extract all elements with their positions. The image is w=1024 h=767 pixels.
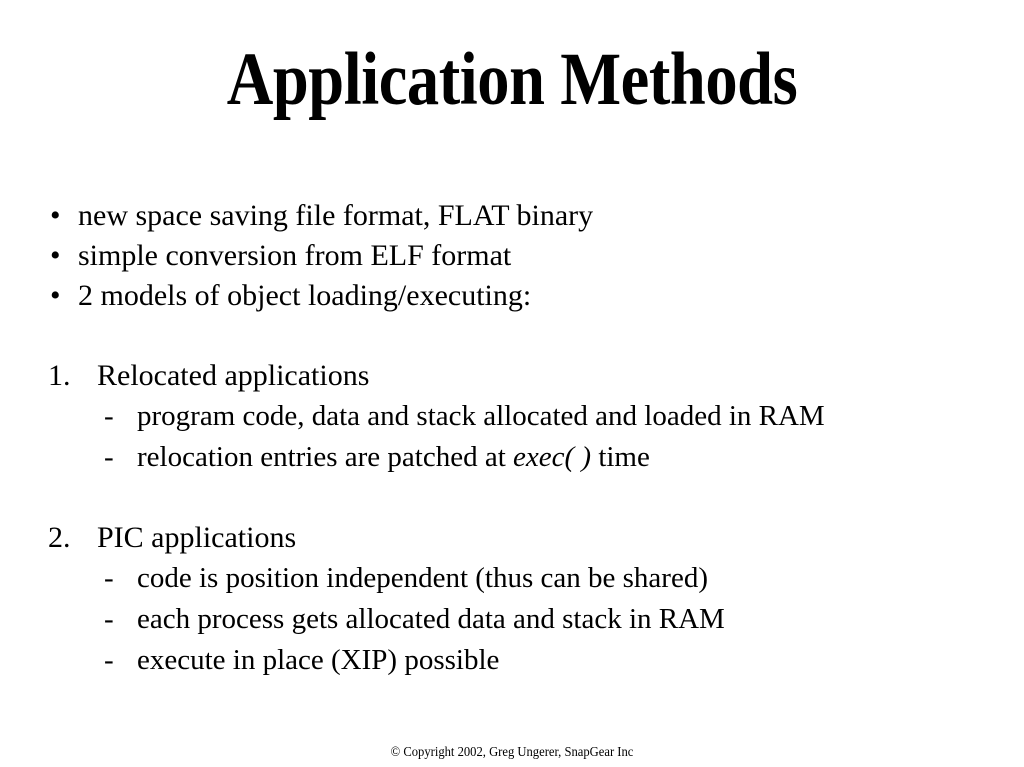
spacer	[44, 478, 1004, 518]
bullet-marker-icon: •	[50, 276, 61, 316]
sub-item: - execute in place (XIP) possible	[44, 640, 1004, 681]
numbered-item: 2. PIC applications	[44, 518, 1004, 558]
list-number: 2.	[48, 518, 71, 558]
slide-body: • new space saving file format, FLAT bin…	[44, 196, 1004, 681]
dash-marker-icon: -	[104, 599, 114, 640]
bullet-text: new space saving file format, FLAT binar…	[78, 199, 593, 232]
sub-item-text: each process gets allocated data and sta…	[137, 603, 725, 635]
sub-item: - program code, data and stack allocated…	[44, 396, 1004, 437]
bullet-marker-icon: •	[50, 196, 61, 236]
dash-marker-icon: -	[104, 437, 114, 478]
sub-item-text: relocation entries are patched at	[137, 441, 513, 473]
bullet-item: • 2 models of object loading/executing:	[44, 276, 1004, 316]
spacer	[44, 316, 1004, 356]
sub-item: - each process gets allocated data and s…	[44, 599, 1004, 640]
list-number: 1.	[48, 356, 71, 396]
bullet-text: simple conversion from ELF format	[78, 239, 511, 272]
bullet-item: • simple conversion from ELF format	[44, 236, 1004, 276]
bullet-marker-icon: •	[50, 236, 61, 276]
dash-marker-icon: -	[104, 558, 114, 599]
numbered-heading: PIC applications	[97, 521, 296, 554]
copyright-footer: © Copyright 2002, Greg Ungerer, SnapGear…	[51, 744, 973, 762]
sub-item-emphasis: exec( )	[513, 441, 591, 473]
sub-item: - relocation entries are patched at exec…	[44, 437, 1004, 478]
dash-marker-icon: -	[104, 396, 114, 437]
numbered-item: 1. Relocated applications	[44, 356, 1004, 396]
sub-item: - code is position independent (thus can…	[44, 558, 1004, 599]
sub-item-text: code is position independent (thus can b…	[137, 562, 708, 594]
numbered-heading: Relocated applications	[97, 359, 369, 392]
bullet-item: • new space saving file format, FLAT bin…	[44, 196, 1004, 236]
presentation-slide: Application Methods • new space saving f…	[0, 0, 1024, 767]
page-title: Application Methods	[72, 42, 953, 117]
sub-item-text: execute in place (XIP) possible	[137, 644, 499, 676]
dash-marker-icon: -	[104, 640, 114, 681]
sub-item-text: program code, data and stack allocated a…	[137, 400, 825, 432]
bullet-text: 2 models of object loading/executing:	[78, 279, 531, 312]
sub-item-text-tail: time	[591, 441, 650, 473]
